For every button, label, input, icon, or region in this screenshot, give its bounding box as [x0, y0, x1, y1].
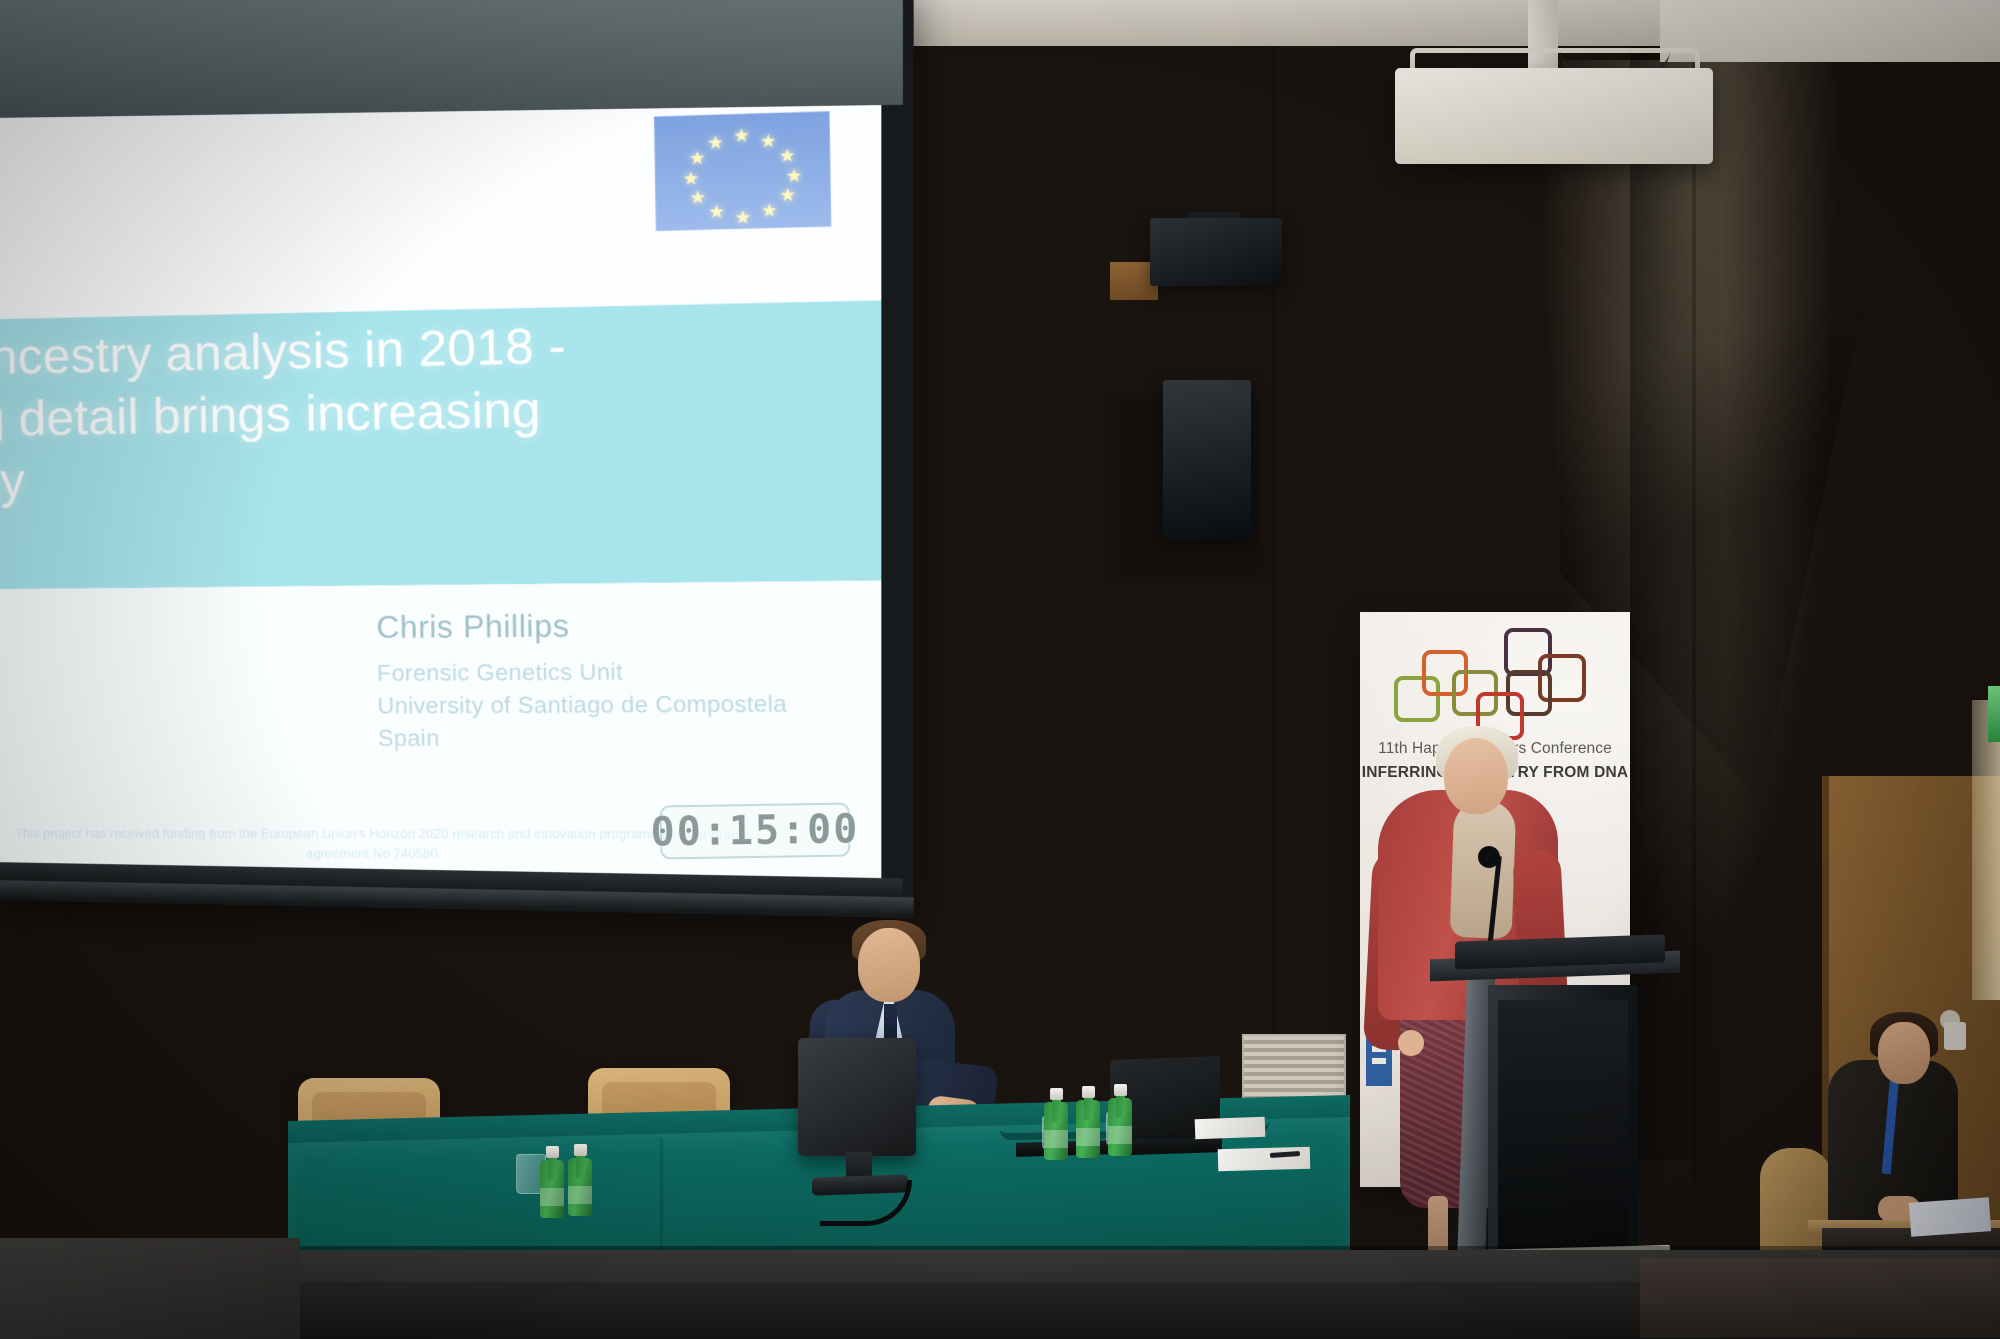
microphone-icon	[1478, 846, 1500, 868]
projection-screen: GE ★ ★ ★ ★ ★ ★ ★ ★ ★ ★ ★ ★	[0, 0, 914, 918]
exit-light	[1988, 686, 2000, 742]
eu-star-icon: ★	[734, 209, 752, 226]
podium-speaker-scarf	[1450, 799, 1517, 939]
eu-star-icon: ★	[785, 168, 803, 186]
slide-author-block: Chris Phillips Forensic Genetics Unit Un…	[376, 607, 855, 755]
bottle-label	[568, 1186, 592, 1204]
eu-star-icon: ★	[733, 128, 751, 146]
wall-seam	[1272, 0, 1276, 1100]
water-bottle	[1044, 1082, 1068, 1160]
ceiling-strip	[1660, 0, 2000, 62]
bottle-label	[1108, 1126, 1132, 1144]
floor-rug	[1640, 1258, 2000, 1338]
podium-speaker-head	[1444, 738, 1508, 814]
wall-seam	[1692, 0, 1696, 1180]
bottle-cap	[574, 1144, 587, 1156]
author-affiliation: University of Santiago de Compostela	[377, 687, 855, 722]
bottle-label	[540, 1188, 564, 1206]
eu-star-icon: ★	[708, 204, 726, 221]
podium-front-panel	[1498, 1000, 1628, 1250]
door-light-gap	[1972, 700, 2000, 1000]
eu-star-icon: ★	[778, 148, 796, 166]
author-affiliation: Spain	[378, 720, 856, 755]
eu-star-icon: ★	[689, 189, 707, 206]
podium-speaker-hand	[1398, 1030, 1424, 1056]
screen-surface: GE ★ ★ ★ ★ ★ ★ ★ ★ ★ ★ ★ ★	[0, 105, 881, 882]
water-bottle	[540, 1140, 564, 1218]
wall-corner-shadow	[1630, 0, 1720, 1160]
technician-head	[1878, 1022, 1930, 1084]
bottle-cap	[1114, 1084, 1127, 1096]
visage-logo: GE	[0, 142, 62, 270]
wall-speaker-upper	[1150, 218, 1282, 286]
flat-panel-monitor	[798, 1038, 916, 1156]
eu-star-icon: ★	[688, 150, 706, 167]
bottle-label	[1044, 1130, 1068, 1148]
water-bottle	[568, 1138, 592, 1216]
eu-star-icon: ★	[682, 170, 700, 187]
author-affiliation: Forensic Genetics Unit	[377, 654, 855, 690]
bottle-cap	[1082, 1086, 1095, 1098]
bottle-cap	[1050, 1088, 1063, 1100]
seated-chairperson-head	[858, 928, 920, 1002]
presentation-slide: GE ★ ★ ★ ★ ★ ★ ★ ★ ★ ★ ★ ★	[0, 105, 881, 882]
eu-star-icon: ★	[779, 187, 797, 205]
floor-left	[0, 1238, 300, 1339]
bottle-label	[1076, 1128, 1100, 1146]
water-bottle	[1108, 1078, 1132, 1156]
ceiling-projector	[1395, 68, 1713, 164]
bottle-cap	[546, 1146, 559, 1158]
slide-title: orensic ancestry analysis in 2018 - ncre…	[0, 310, 849, 516]
technician-papers	[1909, 1197, 1991, 1236]
wall-outlet	[1944, 1022, 1966, 1050]
countdown-timer-value: 00:15:00	[650, 806, 859, 855]
screen-top-valance	[0, 0, 903, 118]
water-bottle	[1076, 1080, 1100, 1158]
eu-flag: ★ ★ ★ ★ ★ ★ ★ ★ ★ ★ ★ ★	[654, 111, 831, 231]
wall-speaker-lower	[1163, 380, 1251, 540]
conference-photo-scene: GE ★ ★ ★ ★ ★ ★ ★ ★ ★ ★ ★ ★	[0, 0, 2000, 1339]
eu-star-icon: ★	[707, 135, 725, 152]
podium-speaker-right-arm	[1512, 849, 1568, 1001]
author-name: Chris Phillips	[376, 607, 854, 647]
eu-star-icon: ★	[759, 133, 777, 151]
papers-on-table	[1195, 1117, 1266, 1139]
eu-star-icon: ★	[760, 202, 778, 219]
countdown-timer: 00:15:00	[660, 803, 851, 860]
